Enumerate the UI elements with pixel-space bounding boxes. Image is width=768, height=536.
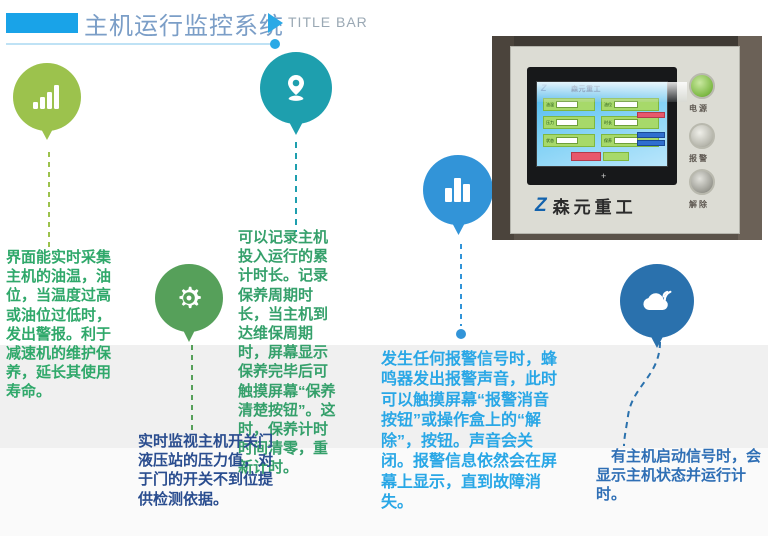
knob-alarm[interactable] [689,123,715,149]
connector-cloud [598,342,678,448]
title-subtitle: TITLE BAR [288,14,368,30]
center-mark: + [601,171,606,181]
title-underline [6,43,274,45]
pin-tail [39,125,55,141]
screen-alarm-bar [637,112,665,118]
signal-bars-icon [32,84,62,110]
connector-location [293,142,299,232]
screen-ok-button[interactable] [603,152,629,161]
bar-chart-icon [444,177,472,203]
panel-brand: Z 森元重工 [535,193,721,218]
text-block-startup: 有主机启动信号时，会显示主机状态并运行计时。 [596,447,762,505]
display-bezel: Z 森元重工 油温 油位 压力 时长 状态 保养 + [527,67,677,185]
hmi-screen[interactable]: Z 森元重工 油温 油位 压力 时长 状态 保养 [536,81,668,167]
title-bar: 主机运行监控系统 TITLE BAR [0,8,400,42]
hmi-control-panel-photo: Z 森元重工 油温 油位 压力 时长 状态 保养 + [492,36,762,240]
screen-field[interactable]: 压力 [543,116,595,129]
pin-cloud[interactable] [620,264,694,338]
knob-label-power: 电源 [689,103,709,114]
title-underline-dot [270,39,280,49]
knob-label-alarm: 报警 [689,153,709,164]
knob-release[interactable] [689,169,715,195]
indicator-power-lamp[interactable] [689,73,715,99]
text-block-alarm: 发生任何报警信号时，蜂鸣器发出报警声音，此时可以触摸屏幕“报警消音按钮”或操作盒… [381,350,557,514]
gear-icon [174,283,204,313]
pin-chart[interactable] [423,155,493,225]
page-title: 主机运行监控系统 [84,6,284,41]
pin-bulb [155,264,223,332]
pin-location[interactable] [260,52,332,124]
screen-button[interactable] [637,132,665,138]
text-block-oil-temp: 界面能实时采集主机的油温，油位，当温度过高或油位过低时，发出警报。利于减速机的维… [6,248,114,402]
pin-bulb [13,63,81,131]
panel-face: Z 森元重工 油温 油位 压力 时长 状态 保养 + [510,46,740,234]
pin-bulb [260,52,332,124]
connector-signal [46,152,52,250]
pin-signal[interactable] [13,63,81,131]
title-accent-chip [6,13,78,33]
screen-button[interactable] [637,140,665,146]
infographic-canvas: 主机运行监控系统 TITLE BAR [0,0,768,536]
connector-chart [456,244,466,356]
photo-right-wall [738,36,762,240]
screen-field[interactable]: 状态 [543,134,595,147]
brand-name: 森元重工 [553,193,637,218]
pin-tail [648,331,666,349]
pin-tail [181,326,197,343]
text-block-hydraulic: 实时监视主机开关门液压站的压力值，对于门的开关不到位提供检测依据。 [138,432,278,509]
play-arrow-icon [268,13,283,33]
pin-bulb [620,264,694,338]
pin-gear[interactable] [155,264,223,332]
pin-tail [450,219,467,236]
location-marker-icon [281,73,311,103]
pin-tail [287,118,305,136]
brand-mark: Z [535,196,547,215]
connector-gear [189,345,195,431]
screen-reset-button[interactable] [571,152,601,161]
screen-glare [537,82,687,102]
cloud-signal-icon [640,286,674,316]
pin-bulb [423,155,493,225]
